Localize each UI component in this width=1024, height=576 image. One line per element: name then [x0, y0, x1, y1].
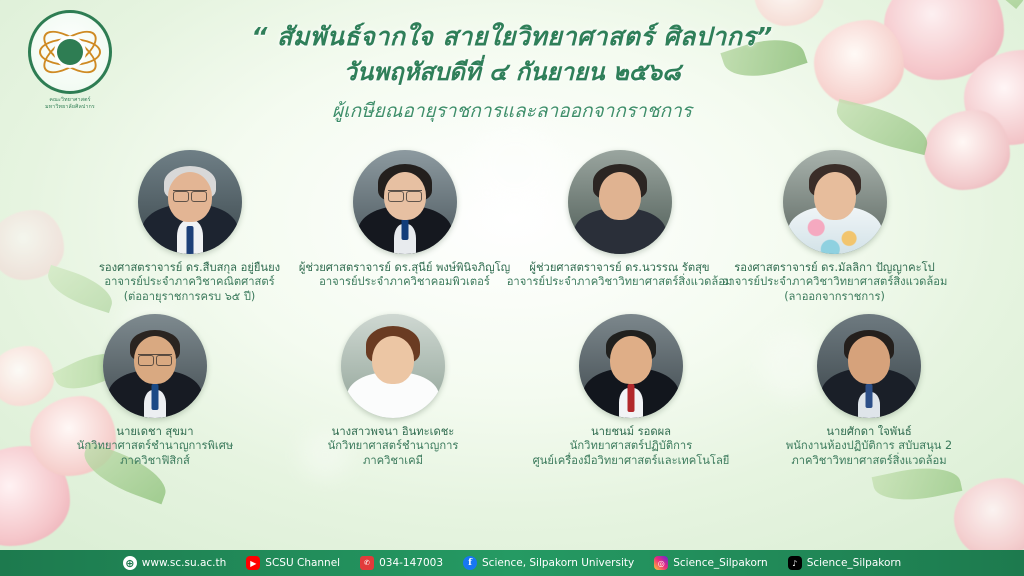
footer-facebook-label: Science, Silpakorn University [482, 557, 634, 569]
honoree-name: นางสาวพจนา อินทะเดชะ [328, 425, 459, 439]
honoree-caption: รองศาสตราจารย์ ดร.มัลลิกา ปัญญาคะโป อาจา… [722, 261, 948, 304]
honoree-caption: นางสาวพจนา อินทะเดชะ นักวิทยาศาสตร์ชำนาญ… [328, 425, 459, 468]
honoree-card: นางสาวพจนา อินทะเดชะ นักวิทยาศาสตร์ชำนาญ… [274, 314, 512, 468]
footer-tiktok[interactable]: ♪ Science_Silpakorn [788, 556, 901, 570]
portrait-male-glasses-dark-suit [103, 314, 207, 418]
honoree-role: นักวิทยาศาสตร์ชำนาญการพิเศษ [77, 439, 233, 453]
footer-tiktok-label: Science_Silpakorn [807, 557, 901, 569]
facebook-icon: f [463, 556, 477, 570]
footer-instagram-label: Science_Silpakorn [673, 557, 767, 569]
contact-footer: ⊕ www.sc.su.ac.th ▶ SCSU Channel ✆ 034-1… [0, 550, 1024, 576]
honoree-role: อาจารย์ประจำภาควิชาวิทยาศาสตร์สิ่งแวดล้อ… [722, 275, 948, 289]
honoree-role: อาจารย์ประจำภาควิชาวิทยาศาสตร์สิ่งแวดล้อ… [507, 275, 733, 289]
portrait-male-suit-glasses [138, 150, 242, 254]
globe-icon: ⊕ [123, 556, 137, 570]
honoree-name: นายเดชา สุขมา [77, 425, 233, 439]
honoree-name: ผู้ช่วยศาสตราจารย์ ดร.นวรรณ รัตสุข [507, 261, 733, 275]
honoree-role: พนักงานห้องปฏิบัติการ สบับสนุน 2 [786, 439, 952, 453]
honoree-caption: นายชนม์ รอดผล นักวิทยาศาสตร์ปฏิบัติการ ศ… [533, 425, 730, 468]
event-date: วันพฤหัสบดีที่ ๔ กันยายน ๒๕๖๘ [0, 56, 1024, 88]
tiktok-icon: ♪ [788, 556, 802, 570]
footer-youtube[interactable]: ▶ SCSU Channel [246, 556, 340, 570]
honoree-name: นายศักดา ใจพันธ์ [786, 425, 952, 439]
honoree-role: อาจารย์ประจำภาควิชาคณิตศาสตร์ [99, 275, 280, 289]
portrait-male-suit-red-tie [579, 314, 683, 418]
honoree-note: ศูนย์เครื่องมือวิทยาศาสตร์และเทคโนโลยี [533, 454, 730, 468]
youtube-icon: ▶ [246, 556, 260, 570]
honoree-card: นายชนม์ รอดผล นักวิทยาศาสตร์ปฏิบัติการ ศ… [512, 314, 750, 468]
footer-instagram[interactable]: ◎ Science_Silpakorn [654, 556, 767, 570]
honoree-note: ภาควิชาเคมี [328, 454, 459, 468]
page-subtitle: ผู้เกษียณอายุราชการและลาออกจากราชการ [0, 96, 1024, 126]
honoree-role: นักวิทยาศาสตร์ชำนาญการ [328, 439, 459, 453]
honoree-note: ภาควิชาฟิสิกส์ [77, 454, 233, 468]
honoree-role: นักวิทยาศาสตร์ปฏิบัติการ [533, 439, 730, 453]
honoree-caption: ผู้ช่วยศาสตราจารย์ ดร.นวรรณ รัตสุข อาจาร… [507, 261, 733, 290]
portrait-female-short-hair-glasses [353, 150, 457, 254]
honoree-caption: ผู้ช่วยศาสตราจารย์ ดร.สุนีย์ พงษ์พินิจภิ… [299, 261, 510, 290]
honoree-row: นายเดชา สุขมา นักวิทยาศาสตร์ชำนาญการพิเศ… [0, 314, 1024, 468]
phone-icon: ✆ [360, 556, 374, 570]
portrait-male-dark-jacket [817, 314, 921, 418]
honoree-note: ภาควิชาวิทยาศาสตร์สิ่งแวดล้อม [786, 454, 952, 468]
honoree-grid: รองศาสตราจารย์ ดร.สืบสกุล อยู่ยืนยง อาจา… [0, 150, 1024, 468]
footer-website-label: www.sc.su.ac.th [142, 557, 227, 569]
honoree-name: ผู้ช่วยศาสตราจารย์ ดร.สุนีย์ พงษ์พินิจภิ… [299, 261, 510, 275]
portrait-female-dark-top [568, 150, 672, 254]
footer-youtube-label: SCSU Channel [265, 557, 340, 569]
honoree-caption: นายเดชา สุขมา นักวิทยาศาสตร์ชำนาญการพิเศ… [77, 425, 233, 468]
honoree-card: นายศักดา ใจพันธ์ พนักงานห้องปฏิบัติการ ส… [750, 314, 988, 468]
honoree-row: รองศาสตราจารย์ ดร.สืบสกุล อยู่ยืนยง อาจา… [0, 150, 1024, 304]
honoree-role: อาจารย์ประจำภาควิชาคอมพิวเตอร์ [299, 275, 510, 289]
honoree-caption: นายศักดา ใจพันธ์ พนักงานห้องปฏิบัติการ ส… [786, 425, 952, 468]
honoree-card: รองศาสตราจารย์ ดร.สืบสกุล อยู่ยืนยง อาจา… [82, 150, 297, 304]
honoree-card: นายเดชา สุขมา นักวิทยาศาสตร์ชำนาญการพิเศ… [36, 314, 274, 468]
honoree-caption: รองศาสตราจารย์ ดร.สืบสกุล อยู่ยืนยง อาจา… [99, 261, 280, 304]
footer-phone-label: 034-147003 [379, 557, 443, 569]
footer-website[interactable]: ⊕ www.sc.su.ac.th [123, 556, 227, 570]
page-title: “ สัมพันธ์จากใจ สายใยวิทยาศาสตร์ ศิลปากร… [0, 20, 1024, 54]
honoree-card: รองศาสตราจารย์ ดร.มัลลิกา ปัญญาคะโป อาจา… [727, 150, 942, 304]
honoree-name: รองศาสตราจารย์ ดร.มัลลิกา ปัญญาคะโป [722, 261, 948, 275]
portrait-female-white-blouse [341, 314, 445, 418]
honoree-note: (ลาออกจากราชการ) [722, 290, 948, 304]
instagram-icon: ◎ [654, 556, 668, 570]
honoree-card: ผู้ช่วยศาสตราจารย์ ดร.นวรรณ รัตสุข อาจาร… [512, 150, 727, 304]
honoree-note: (ต่ออายุราชการครบ ๖๕ ปี) [99, 290, 280, 304]
footer-phone[interactable]: ✆ 034-147003 [360, 556, 443, 570]
header-block: “ สัมพันธ์จากใจ สายใยวิทยาศาสตร์ ศิลปากร… [0, 20, 1024, 126]
portrait-female-floral-blouse [783, 150, 887, 254]
footer-facebook[interactable]: f Science, Silpakorn University [463, 556, 634, 570]
honoree-name: นายชนม์ รอดผล [533, 425, 730, 439]
honoree-card: ผู้ช่วยศาสตราจารย์ ดร.สุนีย์ พงษ์พินิจภิ… [297, 150, 512, 304]
honoree-name: รองศาสตราจารย์ ดร.สืบสกุล อยู่ยืนยง [99, 261, 280, 275]
poster-background: คณะวิทยาศาสตร์ มหาวิทยาลัยศิลปากร “ สัมพ… [0, 0, 1024, 576]
